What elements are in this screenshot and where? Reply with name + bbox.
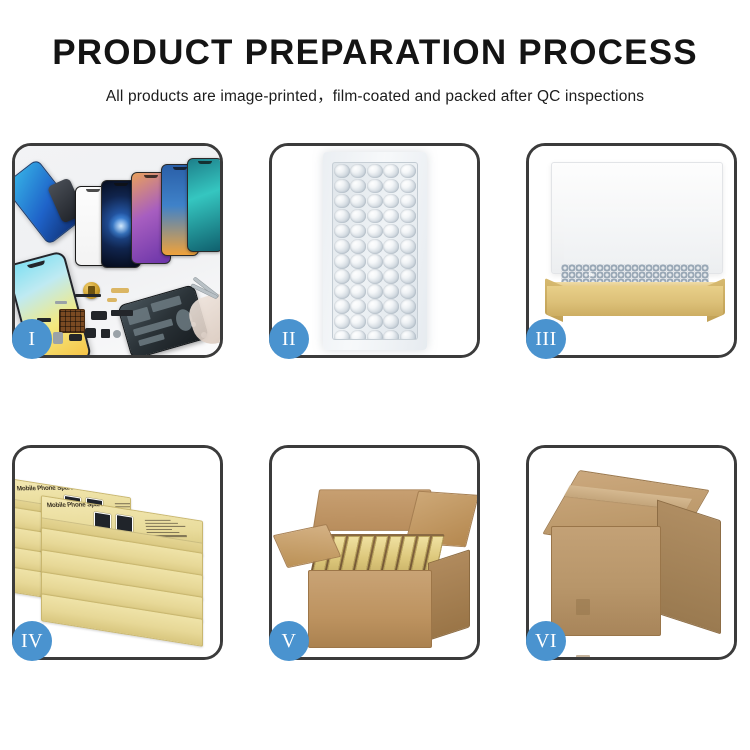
bubble-icon	[334, 179, 350, 194]
retail-box-brand-label: Mobile Phone Spare Parts	[16, 484, 90, 492]
bubble-icon	[367, 239, 383, 254]
bubble-icon	[334, 224, 350, 239]
bubble-icon	[334, 254, 350, 269]
vibration-motor-icon	[101, 329, 110, 338]
step-badge-4: IV	[12, 621, 52, 661]
bubble-icon	[383, 269, 399, 284]
bubble-icon	[334, 194, 350, 209]
bubble-icon	[400, 299, 416, 314]
bubble-icon	[367, 269, 383, 284]
bubble-icon	[383, 284, 399, 299]
earpiece-mesh-icon	[75, 294, 101, 297]
bubble-icon	[383, 224, 399, 239]
connector-icon	[91, 311, 107, 320]
step-badge-3: III	[526, 319, 566, 359]
carton-side-panel	[428, 549, 470, 641]
box-front-panel	[547, 286, 723, 316]
bubble-icon	[334, 164, 350, 179]
bubble-icon	[334, 314, 350, 329]
step-badge-1: I	[12, 319, 52, 359]
bubble-icon	[367, 209, 383, 224]
open-carton-icon	[290, 486, 466, 646]
bubble-grid	[332, 162, 418, 340]
step-badge-5: V	[269, 621, 309, 661]
bubble-icon	[367, 254, 383, 269]
bubble-icon	[334, 239, 350, 254]
bubble-icon	[367, 299, 383, 314]
bubble-icon	[334, 284, 350, 299]
carton-front-panel-sealed	[551, 526, 661, 636]
carton-front-panel	[308, 570, 432, 648]
camera-module-icon	[85, 328, 96, 338]
bubble-icon	[383, 209, 399, 224]
metal-bracket-icon	[55, 301, 67, 304]
bubble-icon	[334, 299, 350, 314]
bubble-icon	[367, 164, 383, 179]
bubble-icon	[367, 179, 383, 194]
bubble-icon	[400, 209, 416, 224]
bubble-icon	[400, 330, 416, 340]
carton-tab-upper	[576, 599, 590, 615]
bubble-icon	[367, 314, 383, 329]
bubble-icon	[350, 209, 366, 224]
process-step-2: II	[269, 143, 480, 358]
bubble-icon	[383, 330, 399, 340]
bubble-icon	[383, 164, 399, 179]
kraft-inner-box-icon	[547, 264, 723, 316]
bubble-icon	[350, 314, 366, 329]
step-badge-2: II	[269, 319, 309, 359]
retail-box-spec-lines	[145, 520, 187, 539]
sim-tray-icon	[53, 332, 63, 344]
bubble-icon	[350, 179, 366, 194]
bubble-icon	[350, 254, 366, 269]
bubble-icon	[367, 194, 383, 209]
bubble-icon	[400, 269, 416, 284]
bubble-icon	[367, 284, 383, 299]
bubble-icon	[400, 164, 416, 179]
process-step-5: V	[269, 445, 480, 660]
process-steps-grid: I II III Mobile Phone Spare PartsMobile …	[12, 143, 738, 660]
retail-box-phone-thumbnail	[116, 514, 133, 534]
bubble-icon	[350, 194, 366, 209]
bubble-icon	[350, 330, 366, 340]
bubble-icon	[367, 224, 383, 239]
bubble-icon	[350, 224, 366, 239]
carton-tab-lower	[576, 655, 590, 657]
screw-icon	[113, 330, 121, 338]
process-step-3: III	[526, 143, 737, 358]
bubble-icon	[383, 239, 399, 254]
bubble-icon	[383, 314, 399, 329]
page-header: PRODUCT PREPARATION PROCESS All products…	[0, 0, 750, 106]
bubble-icon	[334, 330, 350, 340]
bubble-icon	[400, 194, 416, 209]
flex-cable-icon	[111, 288, 129, 293]
bubble-icon	[350, 299, 366, 314]
bubble-wrap-pouch-icon	[323, 152, 427, 350]
bubble-icon	[334, 269, 350, 284]
bubble-icon	[383, 254, 399, 269]
step-badge-6: VI	[526, 621, 566, 661]
bubble-icon	[350, 269, 366, 284]
ribbon-connector-icon	[111, 310, 133, 316]
process-step-1: I	[12, 143, 223, 358]
bubble-icon	[350, 164, 366, 179]
retail-box-phone-thumbnail	[94, 512, 111, 532]
bubble-icon	[400, 179, 416, 194]
process-step-6: VI	[526, 445, 737, 660]
sealed-carton-icon	[549, 480, 721, 648]
bubble-icon	[400, 254, 416, 269]
bubble-icon	[400, 239, 416, 254]
page-subtitle: All products are image-printed，film-coat…	[0, 84, 750, 106]
box-lid-icon	[551, 162, 723, 274]
bubble-icon	[350, 284, 366, 299]
bubble-icon	[350, 239, 366, 254]
bubble-icon	[383, 179, 399, 194]
bubble-icon	[383, 194, 399, 209]
bubble-icon	[400, 224, 416, 239]
process-step-4: Mobile Phone Spare PartsMobile Phone Spa…	[12, 445, 223, 660]
flex-cable-small-icon	[107, 298, 117, 302]
bubble-icon	[383, 299, 399, 314]
bubble-icon	[400, 314, 416, 329]
page-title: PRODUCT PREPARATION PROCESS	[0, 34, 750, 73]
bubble-icon	[334, 209, 350, 224]
bubble-icon	[367, 330, 383, 340]
carton-right-panel	[657, 500, 721, 635]
bubble-icon	[400, 284, 416, 299]
circuit-board-chip-icon	[59, 309, 85, 333]
button-flex-icon	[69, 334, 82, 341]
